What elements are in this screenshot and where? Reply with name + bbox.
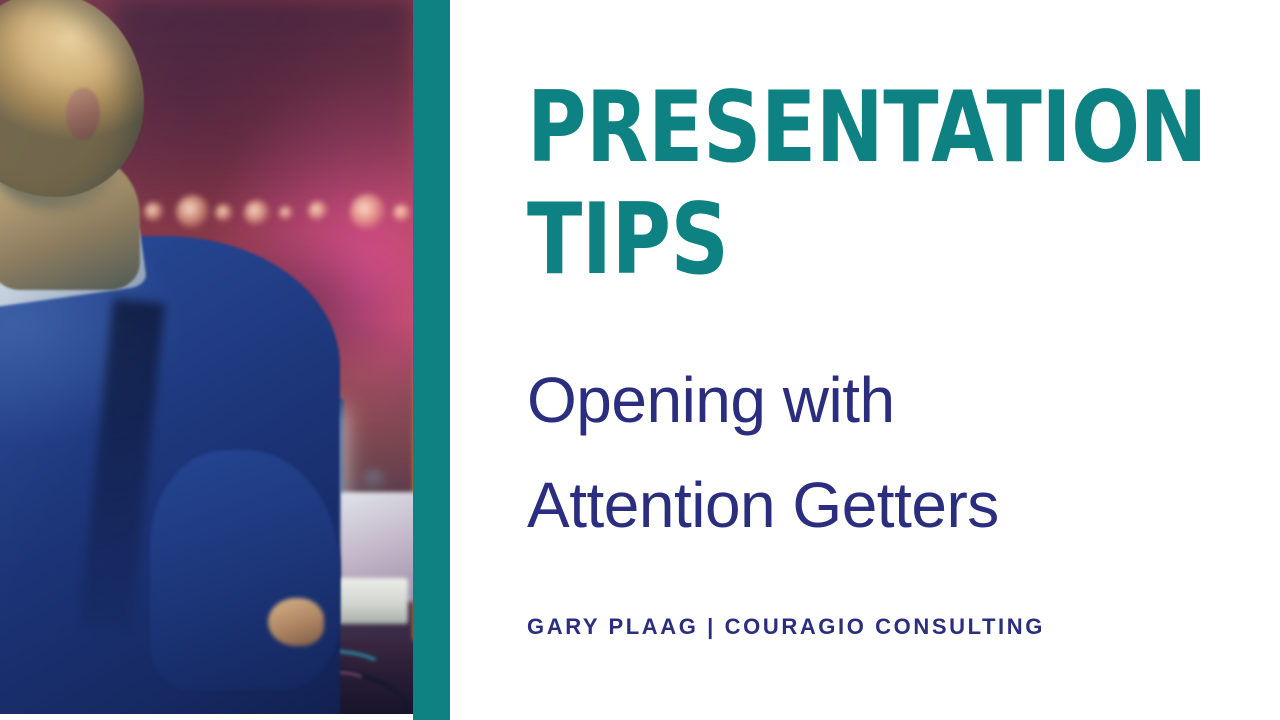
photo-stage-band (116, 0, 413, 214)
photo-speaker-hand (268, 598, 324, 646)
photo-speaker-arm (150, 450, 340, 690)
slide-subtitle: Opening with Attention Getters (527, 348, 1167, 558)
presentation-slide: PRESENTATION TIPS Opening with Attention… (0, 0, 1280, 720)
speaker-photo (0, 0, 413, 714)
slide-content: PRESENTATION TIPS Opening with Attention… (527, 0, 1227, 720)
slide-title: PRESENTATION TIPS (527, 72, 1116, 296)
teal-accent-bar (413, 0, 450, 720)
slide-byline: GARY PLAAG | COURAGIO CONSULTING (527, 614, 1045, 640)
